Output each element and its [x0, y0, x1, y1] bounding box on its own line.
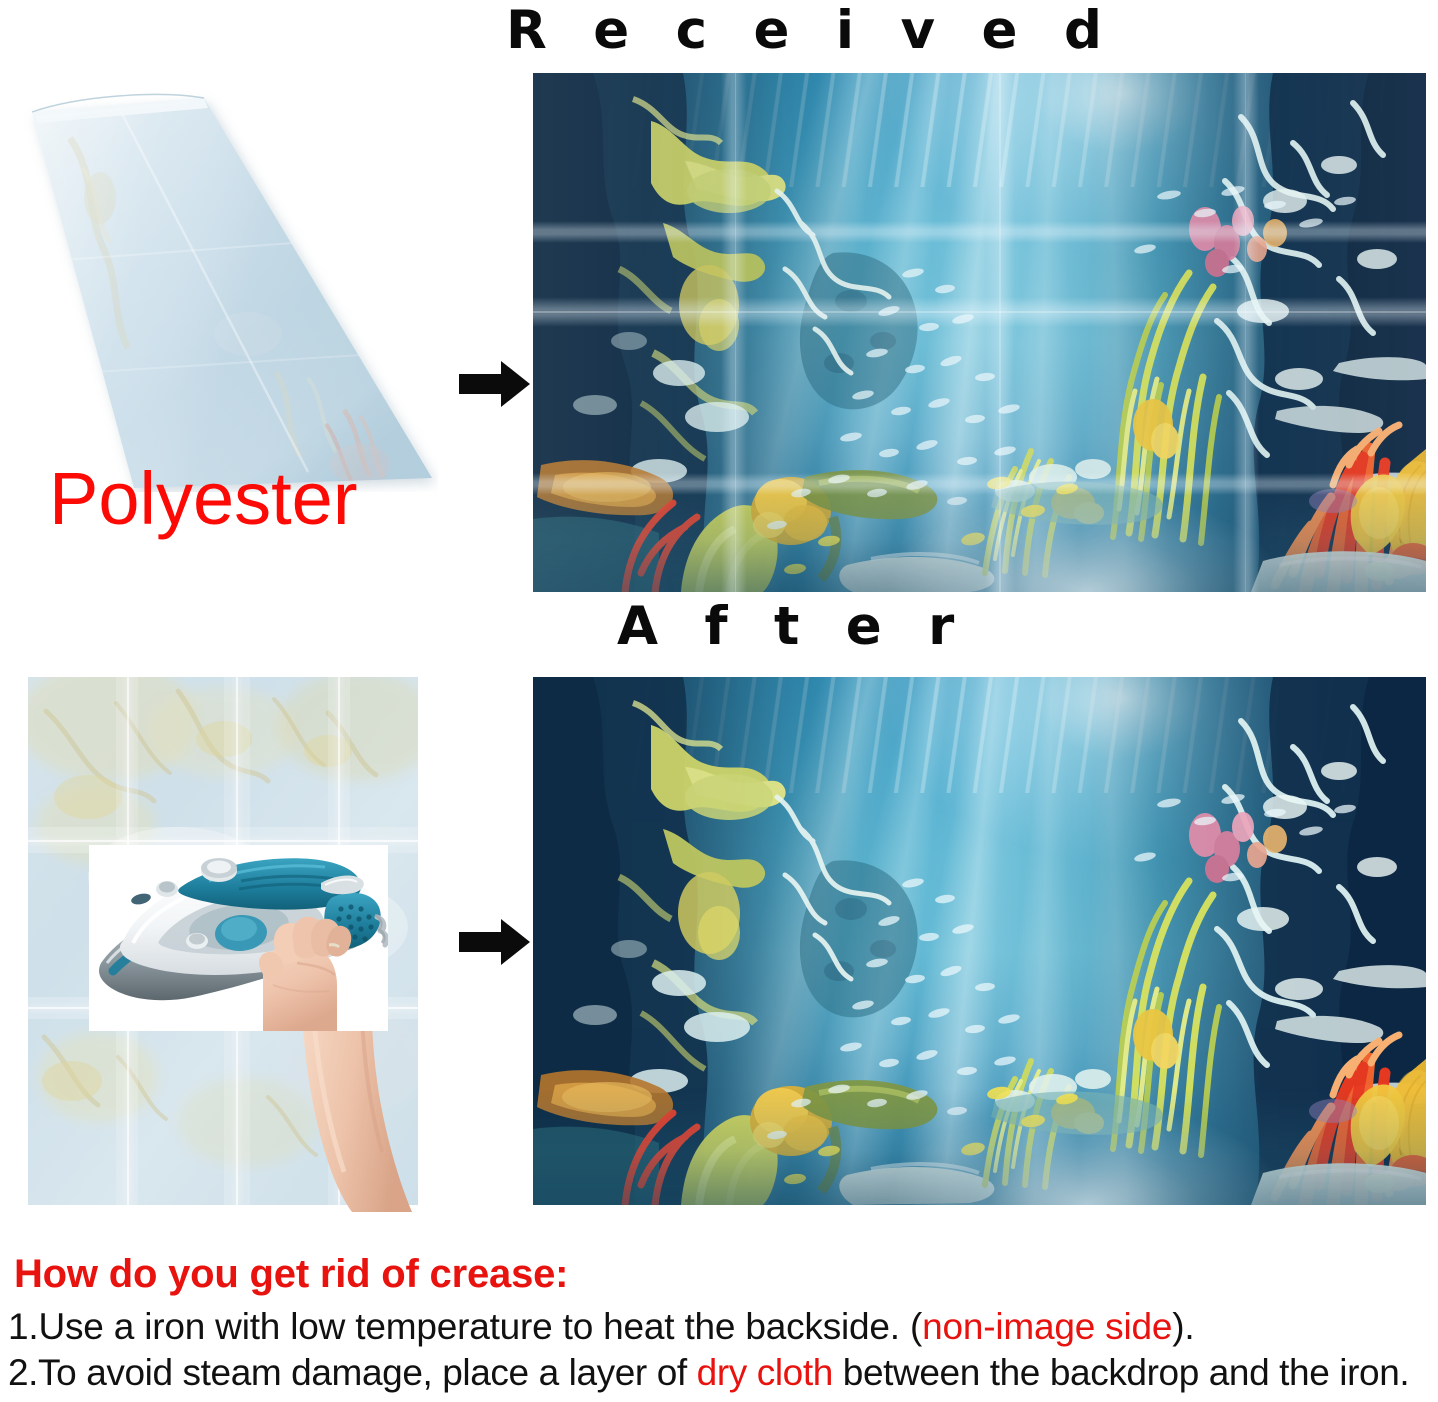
folded-panel-illustration: [8, 72, 438, 492]
sheet-crease: [28, 840, 418, 842]
received-heading: R e c e i v e d: [506, 4, 1116, 57]
arrow-right-icon: [459, 360, 531, 408]
after-backdrop-image: [533, 677, 1426, 1205]
folded-polyester-panel: [8, 72, 438, 492]
ironing-photo: [89, 845, 388, 1031]
forearm: [300, 1012, 450, 1212]
received-backdrop-image: [533, 73, 1426, 592]
line2-highlight: dry cloth: [697, 1352, 833, 1393]
arrow-right-icon: [459, 918, 531, 966]
polyester-label: Polyester: [49, 462, 357, 536]
line1-highlight: non-image side: [922, 1306, 1172, 1347]
seafloor-light: [533, 1089, 1426, 1205]
instruction-line-1: 1.Use a iron with low temperature to hea…: [8, 1308, 1194, 1345]
seafloor-light: [533, 478, 1426, 592]
line1-part-a: 1.Use a iron with low temperature to hea…: [8, 1306, 922, 1347]
line1-part-b: ).: [1172, 1306, 1194, 1347]
instructions-title: How do you get rid of crease:: [14, 1254, 568, 1294]
line2-part-a: 2.To avoid steam damage, place a layer o…: [8, 1352, 697, 1393]
after-heading: A f t e r: [617, 600, 968, 653]
steam-iron-illustration: [89, 845, 388, 1031]
instruction-line-2: 2.To avoid steam damage, place a layer o…: [8, 1354, 1409, 1391]
line2-part-b: between the backdrop and the iron.: [833, 1352, 1409, 1393]
